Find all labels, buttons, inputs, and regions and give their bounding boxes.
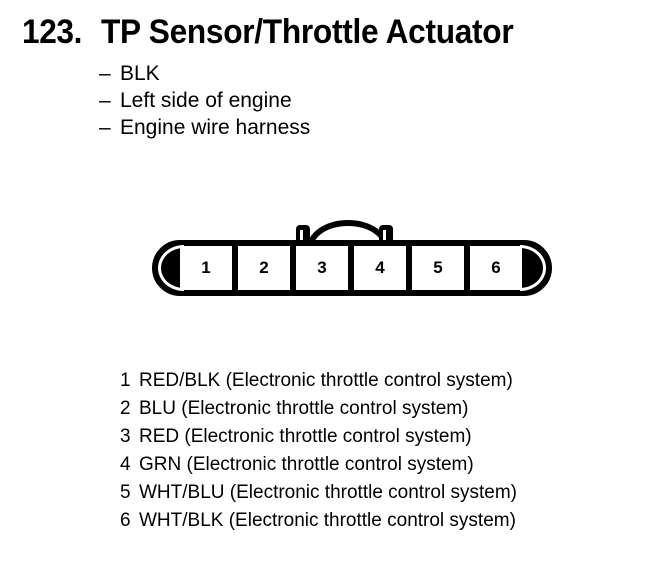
pin-number: 6 (120, 510, 139, 532)
attribute-item: – Engine wire harness (99, 116, 310, 143)
pin-assignment-row: 1 RED/BLK (Electronic throttle control s… (120, 370, 517, 398)
pin-number: 5 (120, 482, 139, 504)
dash-icon: – (99, 116, 120, 140)
cavity-row: 1 2 3 4 5 6 (180, 246, 522, 290)
dash-icon: – (99, 62, 120, 86)
pin-description: WHT/BLK (Electronic throttle control sys… (139, 510, 516, 532)
pin-assignment-row: 6 WHT/BLK (Electronic throttle control s… (120, 510, 517, 538)
attribute-label: BLK (120, 62, 160, 86)
title-number: 123. (22, 13, 82, 52)
pin-assignment-list: 1 RED/BLK (Electronic throttle control s… (120, 370, 517, 538)
attribute-item: – Left side of engine (99, 89, 310, 116)
attribute-item: – BLK (99, 62, 310, 89)
connector-cavity: 6 (470, 246, 522, 290)
connector-cavity: 4 (354, 246, 406, 290)
pin-number: 1 (120, 370, 139, 392)
attribute-label: Left side of engine (120, 89, 292, 113)
pin-description: RED (Electronic throttle control system) (139, 426, 472, 448)
pin-number: 3 (120, 426, 139, 448)
title-text: TP Sensor/Throttle Actuator (101, 13, 513, 52)
page-title: 123. TP Sensor/Throttle Actuator (22, 13, 544, 52)
pin-number: 4 (120, 454, 139, 476)
pin-assignment-row: 4 GRN (Electronic throttle control syste… (120, 454, 517, 482)
pin-description: GRN (Electronic throttle control system) (139, 454, 474, 476)
dash-icon: – (99, 89, 120, 113)
pin-assignment-row: 2 BLU (Electronic throttle control syste… (120, 398, 517, 426)
pin-assignment-row: 3 RED (Electronic throttle control syste… (120, 426, 517, 454)
connector-cavity: 3 (296, 246, 348, 290)
attribute-label: Engine wire harness (120, 116, 310, 140)
attribute-list: – BLK – Left side of engine – Engine wir… (99, 62, 310, 143)
pin-description: WHT/BLU (Electronic throttle control sys… (139, 482, 517, 504)
connector-diagram: 1 2 3 4 5 6 (150, 212, 554, 304)
connector-cavity: 5 (412, 246, 464, 290)
connector-cavity: 2 (238, 246, 290, 290)
pin-assignment-row: 5 WHT/BLU (Electronic throttle control s… (120, 482, 517, 510)
connector-cavity: 1 (180, 246, 232, 290)
pin-description: RED/BLK (Electronic throttle control sys… (139, 370, 513, 392)
pin-description: BLU (Electronic throttle control system) (139, 398, 468, 420)
pin-number: 2 (120, 398, 139, 420)
